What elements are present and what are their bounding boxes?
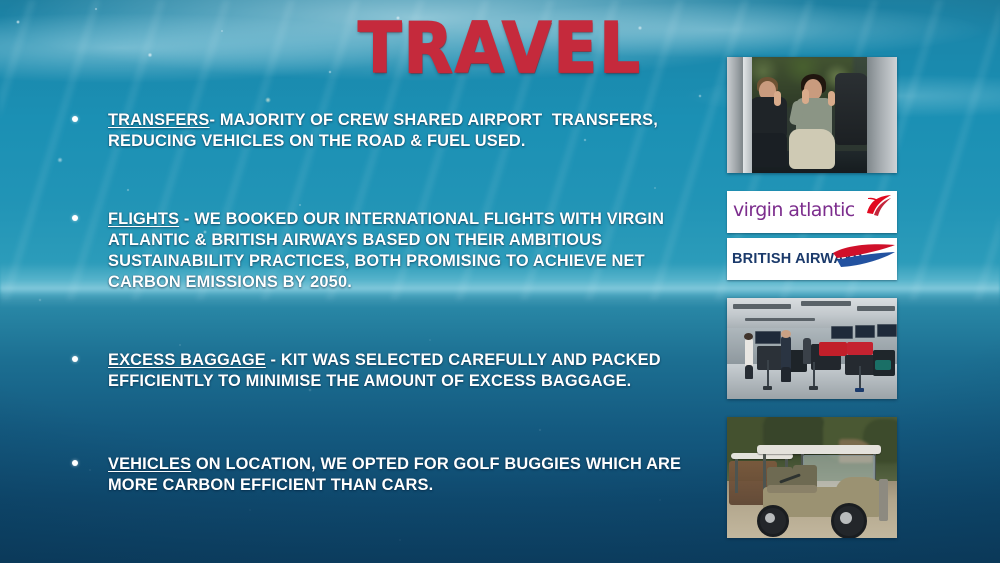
person-legs bbox=[745, 365, 753, 379]
travel-slide: TRAVEL TRANSFERS- MAJORITY OF CREW SHARE… bbox=[0, 0, 1000, 563]
ceiling-beam bbox=[801, 301, 851, 306]
equipment-case bbox=[757, 346, 783, 370]
wheel-hub bbox=[840, 512, 852, 524]
red-equipment-case bbox=[847, 342, 873, 355]
departure-screen bbox=[877, 324, 897, 337]
van-seat-back bbox=[835, 73, 869, 145]
bullet-lead-flights: FLIGHTS bbox=[108, 210, 179, 228]
media-column: virgin atlantic BRITISH AIRWAYS bbox=[727, 57, 897, 538]
photo-airport-checkin bbox=[727, 298, 897, 399]
bullet-body-vehicles: ON LOCATION, WE OPTED FOR GOLF BUGGIES W… bbox=[108, 455, 686, 494]
buggy-seat-cushion bbox=[767, 485, 817, 493]
bullet-list: TRANSFERS- MAJORITY OF CREW SHARED AIRPO… bbox=[64, 110, 710, 496]
queue-stanchion bbox=[767, 360, 769, 386]
queue-stanchion bbox=[859, 366, 861, 388]
ba-speedmarque-icon bbox=[831, 244, 897, 274]
departure-screen bbox=[831, 326, 853, 339]
bullet-lead-vehicles: VEHICLES bbox=[108, 455, 191, 473]
bullet-lead-excess-baggage: EXCESS BAGGAGE bbox=[108, 351, 266, 369]
queue-stanchion bbox=[813, 362, 815, 386]
person-head bbox=[781, 330, 791, 338]
list-item: EXCESS BAGGAGE - KIT WAS SELECTED CAREFU… bbox=[64, 350, 710, 392]
bullet-lead-transfers: TRANSFERS bbox=[108, 111, 210, 129]
ceiling-beam bbox=[745, 318, 815, 321]
departure-screen bbox=[855, 325, 875, 338]
legs bbox=[789, 129, 835, 169]
virgin-signature-icon bbox=[865, 194, 893, 218]
red-equipment-case bbox=[819, 342, 847, 356]
photo-crew-van bbox=[727, 57, 897, 173]
stanchion-base bbox=[809, 386, 818, 390]
logo-virgin-atlantic: virgin atlantic bbox=[727, 191, 897, 233]
photo-golf-buggy bbox=[727, 417, 897, 538]
thumbs-up-icon bbox=[802, 89, 809, 104]
person bbox=[781, 336, 791, 370]
bullet-body-flights: - WE BOOKED OUR INTERNATIONAL FLIGHTS WI… bbox=[108, 210, 668, 291]
person-legs bbox=[781, 367, 791, 382]
bullet-dot-icon bbox=[72, 116, 78, 122]
buggy-roof bbox=[757, 445, 881, 454]
bullet-dot-icon bbox=[72, 215, 78, 221]
person bbox=[803, 338, 811, 364]
van-door-frame-left bbox=[727, 57, 743, 173]
bullet-dot-icon bbox=[72, 356, 78, 362]
person-head bbox=[744, 333, 753, 340]
logo-british-airways: BRITISH AIRWAYS bbox=[727, 238, 897, 280]
list-item: VEHICLES ON LOCATION, WE OPTED FOR GOLF … bbox=[64, 454, 710, 496]
stanchion-base bbox=[763, 386, 772, 390]
van-door-frame-right bbox=[867, 57, 897, 173]
stanchion-base bbox=[855, 388, 864, 392]
wooden-post bbox=[879, 479, 888, 521]
legs bbox=[749, 133, 787, 167]
bullet-dot-icon bbox=[72, 460, 78, 466]
thumbs-up-icon bbox=[828, 91, 835, 106]
wheel-hub bbox=[765, 513, 775, 523]
departure-screen bbox=[755, 331, 781, 344]
ceiling-beam bbox=[857, 306, 895, 311]
second-cart-post bbox=[735, 459, 738, 493]
thumbs-up-icon bbox=[774, 91, 781, 106]
equipment-case bbox=[875, 360, 891, 370]
list-item: TRANSFERS- MAJORITY OF CREW SHARED AIRPO… bbox=[64, 110, 710, 152]
virgin-atlantic-wordmark: virgin atlantic bbox=[733, 199, 855, 221]
ceiling-beam bbox=[733, 304, 791, 309]
van-pillar bbox=[743, 57, 752, 173]
list-item: FLIGHTS - WE BOOKED OUR INTERNATIONAL FL… bbox=[64, 209, 710, 293]
